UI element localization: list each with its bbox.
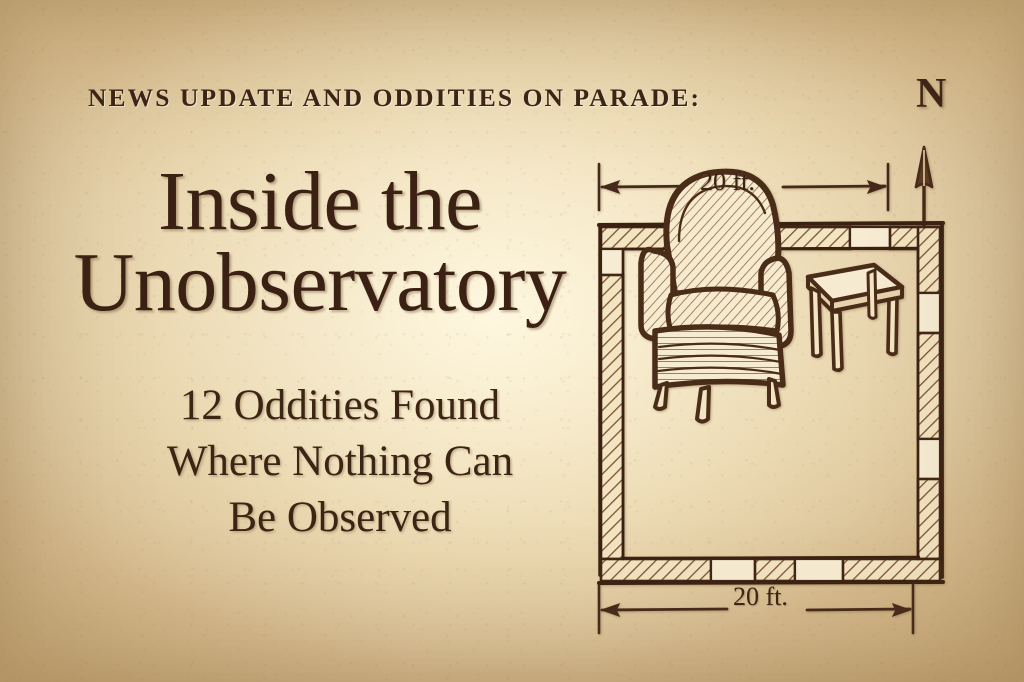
wall-opening-top-2 xyxy=(850,227,890,249)
wall-right xyxy=(918,225,942,577)
wall-opening-bottom-2 xyxy=(795,559,843,581)
subtitle-line-1: 12 Oddities Found xyxy=(10,378,670,434)
poster-canvas: NEWS UPDATE AND ODDITIES ON PARADE: Insi… xyxy=(0,0,1024,682)
subtitle-line-3: Be Observed xyxy=(10,490,670,546)
page-title: Inside the Unobservatory xyxy=(0,160,640,324)
north-label: N xyxy=(916,70,946,118)
title-line-1: Inside the xyxy=(158,155,482,248)
wall-opening-left-1 xyxy=(601,249,623,275)
side-table-illustration xyxy=(808,265,902,370)
wall-bottom xyxy=(599,557,943,583)
wall-opening-bottom-1 xyxy=(711,559,755,581)
north-arrow-icon xyxy=(916,147,932,225)
wall-left xyxy=(600,227,623,575)
floorplan-drawing xyxy=(575,55,1005,635)
dimension-label-bottom: 20 ft. xyxy=(733,582,788,612)
title-line-2: Unobservatory xyxy=(0,241,640,324)
armchair-illustration xyxy=(641,172,791,422)
wall-opening-right-1 xyxy=(918,293,940,333)
subtitle-text: 12 Oddities Found Where Nothing Can Be O… xyxy=(10,378,670,546)
subtitle-line-2: Where Nothing Can xyxy=(10,434,670,490)
dimension-label-top: 20 ft. xyxy=(700,167,755,197)
wall-opening-right-2 xyxy=(918,439,940,479)
